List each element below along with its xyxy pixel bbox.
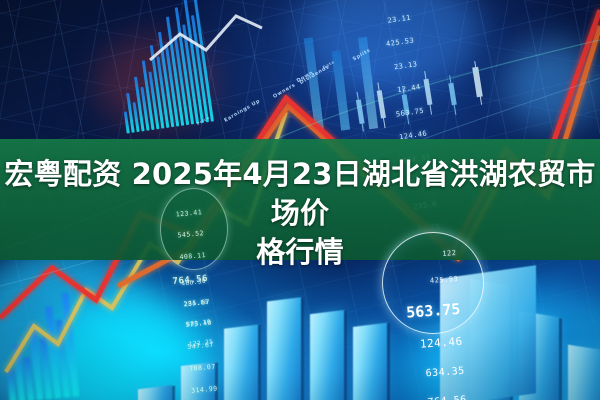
quote-value: 124.46 [392, 336, 463, 353]
quote-value: 122 [386, 250, 456, 263]
quote-value: 408.11 [156, 252, 206, 264]
quote-value: 708.07 [166, 364, 216, 376]
quote-value: 547.67 [164, 342, 214, 354]
quote-value: 634.35 [394, 366, 465, 382]
quote-value: 314.99 [167, 385, 217, 397]
quote-value: 545.52 [154, 230, 204, 242]
quote-value: 764.56 [397, 395, 468, 400]
title-line-1: 宏粤配资 2025年4月23日湖北省洪湖农贸市场价 [0, 155, 600, 233]
quote-value: 764.56 [158, 274, 209, 288]
title-line-2: 格行情 [0, 233, 600, 272]
quote-value-highlight: 563.75 [390, 301, 461, 323]
quote-value: 575.40 [162, 320, 212, 332]
quote-value: 425.53 [388, 276, 458, 289]
banner-image: Earnings Up Owners Down Dividends Splits… [0, 0, 600, 400]
quote-value: 123.41 [152, 209, 202, 221]
page-title: 宏粤配资 2025年4月23日湖北省洪湖农贸市场价 格行情 [0, 155, 600, 272]
quote-value: 235.67 [160, 298, 210, 310]
